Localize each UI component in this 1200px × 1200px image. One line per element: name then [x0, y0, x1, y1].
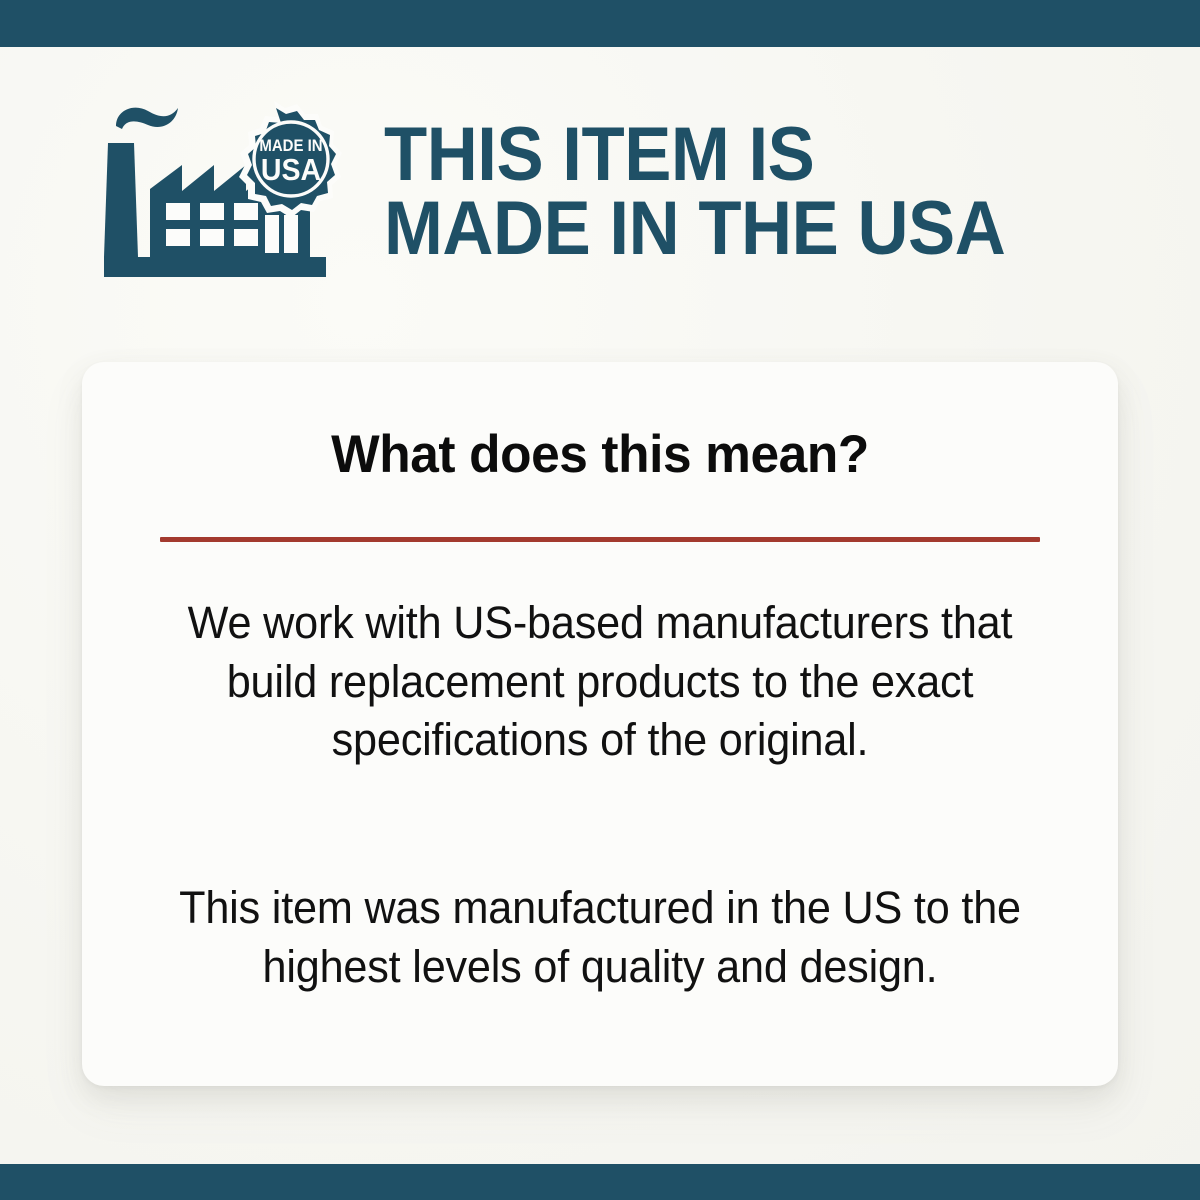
- made-in-usa-banner: MADE IN USA THIS ITEM IS MADE IN THE USA…: [0, 0, 1200, 1200]
- heading-line-1: THIS ITEM IS: [384, 118, 1109, 192]
- card-paragraph-1: We work with US-based manufacturers that…: [151, 594, 1050, 770]
- banner-header: MADE IN USA THIS ITEM IS MADE IN THE USA: [104, 92, 1164, 292]
- top-accent-bar: [0, 0, 1200, 47]
- svg-text:USA: USA: [261, 153, 321, 187]
- card-paragraph-2: This item was manufactured in the US to …: [151, 879, 1050, 996]
- banner-heading: THIS ITEM IS MADE IN THE USA: [384, 118, 1109, 267]
- factory-icon: MADE IN USA: [104, 99, 342, 285]
- heading-line-2: MADE IN THE USA: [384, 192, 1109, 266]
- title-divider: [160, 537, 1040, 542]
- made-in-usa-seal-icon: MADE IN USA: [239, 101, 342, 218]
- card-title: What does this mean?: [98, 424, 1103, 485]
- bottom-accent-bar: [0, 1164, 1200, 1200]
- explanation-card: What does this mean? We work with US-bas…: [82, 362, 1118, 1086]
